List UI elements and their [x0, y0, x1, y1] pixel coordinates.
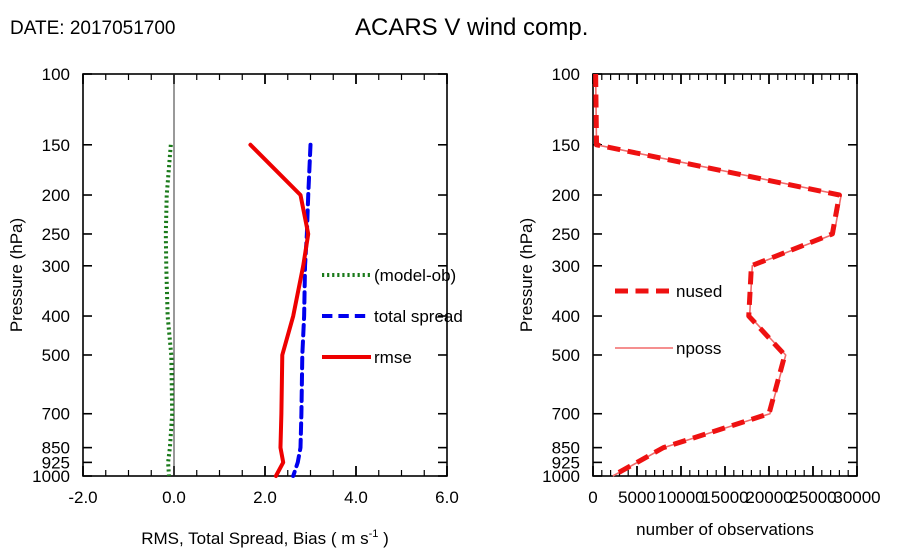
y-tick-label: 100: [42, 65, 70, 84]
right-panel-legend: nusednposs: [615, 282, 722, 358]
left-panel-x-axis-title: RMS, Total Spread, Bias ( m s-1 ): [141, 528, 389, 548]
y-tick-label: 200: [552, 186, 580, 205]
x-tick-label: 5000: [618, 488, 656, 507]
legend-label: nposs: [676, 339, 721, 358]
series-line: [596, 74, 840, 476]
x-tick-label: 10000: [657, 488, 704, 507]
left-panel-x-tick-labels: -2.00.02.04.06.0: [68, 488, 458, 507]
left-panel-x-axis-title-exponent: -1: [369, 528, 379, 540]
y-tick-label: 500: [552, 346, 580, 365]
right-panel: 1001502002503004005007008509251000 05000…: [517, 65, 881, 539]
left-panel: 1001502002503004005007008509251000 -2.00…: [7, 65, 463, 548]
y-tick-label: 400: [552, 307, 580, 326]
legend-label: total spread: [374, 307, 463, 326]
y-tick-label: 250: [42, 225, 70, 244]
y-tick-label: 150: [552, 136, 580, 155]
right-panel-frame: [593, 74, 857, 476]
x-tick-label: 20000: [745, 488, 792, 507]
right-panel-y-axis-title: Pressure (hPa): [517, 218, 536, 332]
x-tick-label: 30000: [833, 488, 880, 507]
left-panel-y-tick-labels: 1001502002503004005007008509251000: [32, 65, 70, 486]
legend-label: rmse: [374, 348, 412, 367]
x-tick-label: 0.0: [162, 488, 186, 507]
series-line: [166, 145, 172, 476]
x-tick-label: 2.0: [253, 488, 277, 507]
legend-label: (model-ob): [374, 266, 456, 285]
right-panel-series-group: [596, 74, 842, 476]
plot-canvas: 1001502002503004005007008509251000 -2.00…: [0, 0, 900, 560]
right-panel-ticks: [593, 74, 857, 476]
left-panel-x-axis-title-tail: ): [378, 529, 388, 548]
legend-label: nused: [676, 282, 722, 301]
x-tick-label: 25000: [789, 488, 836, 507]
y-tick-label: 300: [552, 257, 580, 276]
y-tick-label: 700: [552, 405, 580, 424]
left-panel-series-group: [166, 145, 311, 476]
y-tick-label: 100: [552, 65, 580, 84]
y-tick-label: 250: [552, 225, 580, 244]
x-tick-label: 0: [588, 488, 597, 507]
y-tick-label: 300: [42, 257, 70, 276]
y-tick-label: 500: [42, 346, 70, 365]
x-tick-label: 15000: [701, 488, 748, 507]
right-panel-y-tick-labels: 1001502002503004005007008509251000: [542, 65, 580, 486]
y-tick-label: 1000: [542, 467, 580, 486]
y-tick-label: 200: [42, 186, 70, 205]
y-tick-label: 400: [42, 307, 70, 326]
left-panel-x-axis-title-main: RMS, Total Spread, Bias ( m s: [141, 529, 368, 548]
left-panel-y-axis-title: Pressure (hPa): [7, 218, 26, 332]
figure-root: DATE: 2017051700 ACARS V wind comp. 1001…: [0, 0, 900, 560]
x-tick-label: 6.0: [435, 488, 459, 507]
right-panel-x-axis-title: number of observations: [636, 520, 814, 539]
y-tick-label: 1000: [32, 467, 70, 486]
x-tick-label: -2.0: [68, 488, 97, 507]
y-tick-label: 150: [42, 136, 70, 155]
x-tick-label: 4.0: [344, 488, 368, 507]
left-panel-legend: (model-ob)total spreadrmse: [322, 266, 463, 367]
y-tick-label: 700: [42, 405, 70, 424]
series-line: [596, 74, 842, 476]
right-panel-x-tick-labels: 050001000015000200002500030000: [588, 488, 880, 507]
